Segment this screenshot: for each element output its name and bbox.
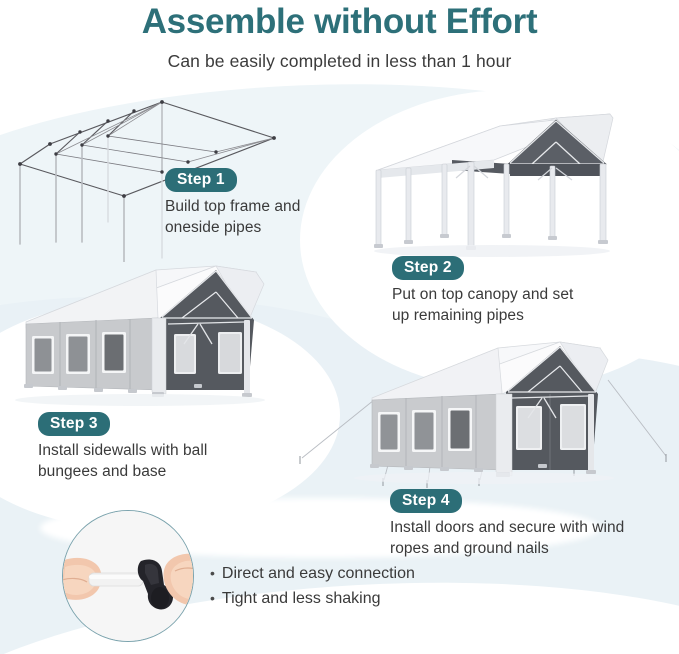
step-caption-2: Step 2 Put on top canopy and set up rema… xyxy=(392,256,573,326)
step-badge-2: Step 2 xyxy=(392,256,464,280)
step-badge-3: Step 3 xyxy=(38,412,110,436)
step-caption-4: Step 4 Install doors and secure with win… xyxy=(390,489,624,559)
connector-photo-circle xyxy=(62,510,194,642)
step-caption-3: Step 3 Install sidewalls with ball bunge… xyxy=(38,412,207,482)
bullet-text: Tight and less shaking xyxy=(222,587,381,612)
step-text-1: Build top frame and oneside pipes xyxy=(165,197,300,238)
hands-connecting-pipe-illustration xyxy=(63,511,193,641)
bullet-marker-icon: • xyxy=(210,587,215,609)
header: Assemble without Effort Can be easily co… xyxy=(0,0,679,72)
illustration-step-2 xyxy=(360,108,660,268)
bullet-marker-icon: • xyxy=(210,562,215,584)
list-item: • Direct and easy connection xyxy=(210,562,415,587)
page-subtitle: Can be easily completed in less than 1 h… xyxy=(0,51,679,72)
page-title: Assemble without Effort xyxy=(0,4,679,39)
bullet-text: Direct and easy connection xyxy=(222,562,415,587)
list-item: • Tight and less shaking xyxy=(210,587,415,612)
step-text-4: Install doors and secure with wind ropes… xyxy=(390,518,624,559)
step-badge-1: Step 1 xyxy=(165,168,237,192)
step-caption-1: Step 1 Build top frame and oneside pipes xyxy=(165,168,300,238)
feature-bullet-list: • Direct and easy connection • Tight and… xyxy=(210,562,415,612)
illustration-step-4 xyxy=(288,330,679,498)
step-text-3: Install sidewalls with ball bungees and … xyxy=(38,441,207,482)
step-text-2: Put on top canopy and set up remaining p… xyxy=(392,285,573,326)
step-badge-4: Step 4 xyxy=(390,489,462,513)
infographic-canvas: Assemble without Effort Can be easily co… xyxy=(0,0,679,654)
